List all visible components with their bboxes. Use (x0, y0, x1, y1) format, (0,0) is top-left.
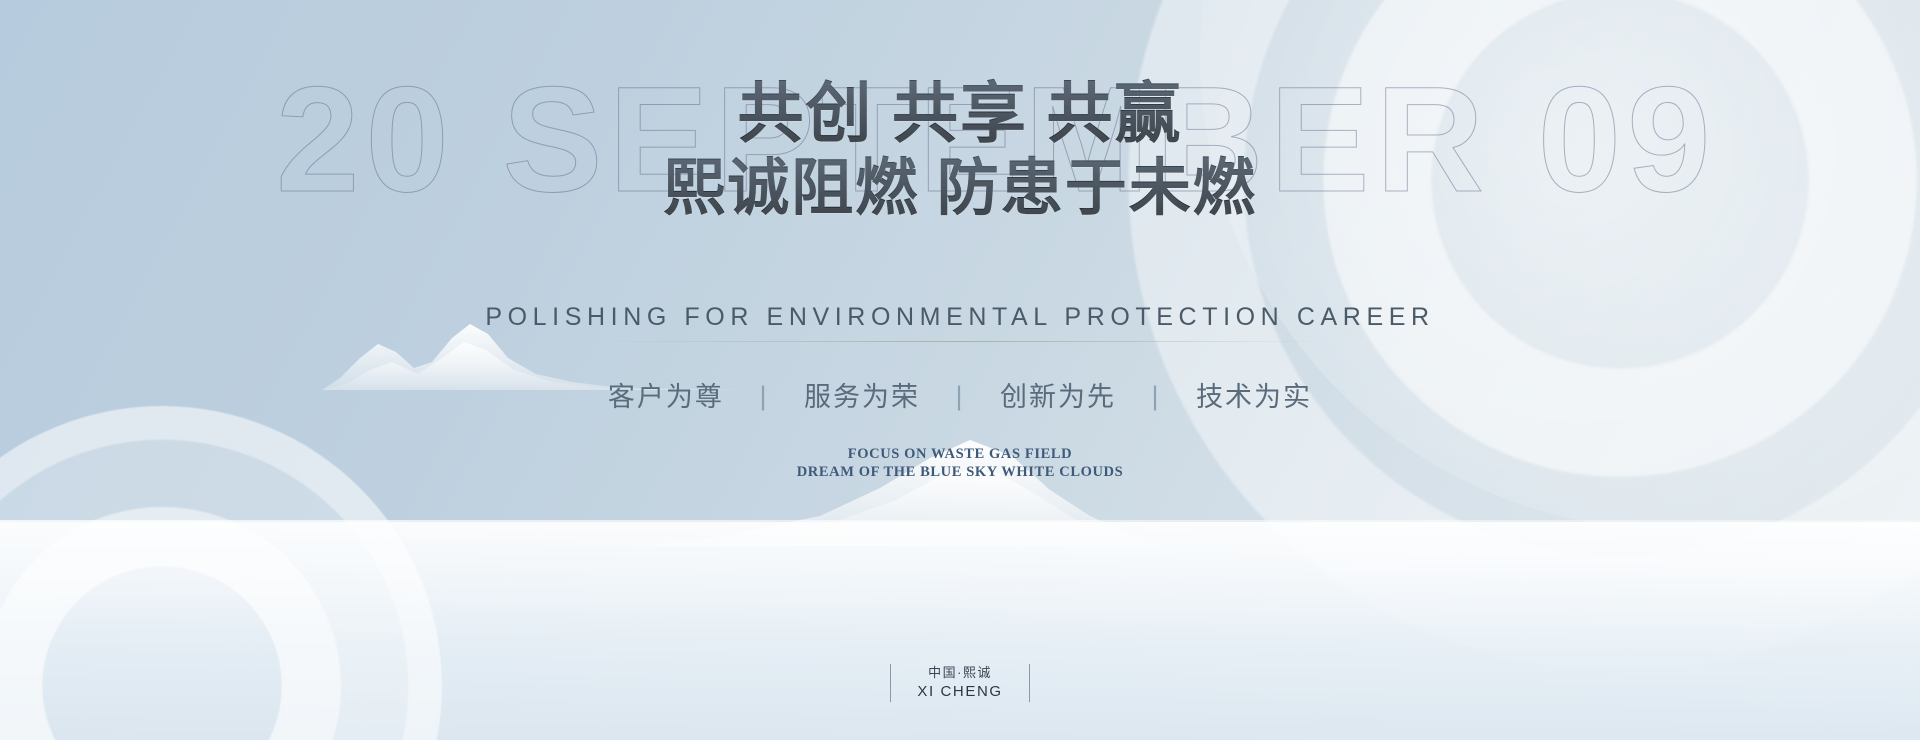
value-item-3: 创新为先 (1000, 375, 1116, 414)
promotional-banner: 20 SEPTEMBER 09 (0, 0, 1920, 740)
value-item-4: 技术为实 (1196, 375, 1312, 414)
value-divider-1: | (733, 381, 794, 412)
tagline-underline-rule (594, 341, 1326, 342)
english-tagline-text: POLISHING FOR ENVIRONMENTAL PROTECTION C… (485, 303, 1434, 331)
value-item-1: 客户为尊 (608, 375, 724, 414)
horizon-line-decoration (0, 520, 1920, 522)
value-divider-2: | (929, 381, 990, 412)
value-divider-3: | (1126, 381, 1187, 412)
footer-brand-text: 中国·熙诚 XI CHENG (917, 665, 1002, 701)
footer-right-bar-icon (1029, 664, 1030, 702)
footer-logo-block: 中国·熙诚 XI CHENG (0, 664, 1920, 702)
footer-brand-cn: 中国·熙诚 (917, 665, 1002, 682)
footer-left-bar-icon (890, 664, 891, 702)
horizon-floor-decoration (0, 522, 1920, 740)
footer-brand-en: XI CHENG (917, 682, 1002, 701)
headline-line-2: 熙诚阻燃 防患于未燃 (0, 154, 1920, 224)
headline-line-1: 共创 共享 共赢 (0, 78, 1920, 152)
value-item-2: 服务为荣 (804, 375, 920, 414)
headline-block: 共创 共享 共赢 熙诚阻燃 防患于未燃 (0, 78, 1920, 224)
serif-slogan-block: FOCUS ON WASTE GAS FIELD DREAM OF THE BL… (0, 445, 1920, 481)
core-values-row: 客户为尊 | 服务为荣 | 创新为先 | 技术为实 (0, 375, 1920, 414)
slogan-line-1: FOCUS ON WASTE GAS FIELD (0, 445, 1920, 463)
slogan-line-2: DREAM OF THE BLUE SKY WHITE CLOUDS (0, 463, 1920, 481)
english-tagline: POLISHING FOR ENVIRONMENTAL PROTECTION C… (0, 303, 1920, 342)
